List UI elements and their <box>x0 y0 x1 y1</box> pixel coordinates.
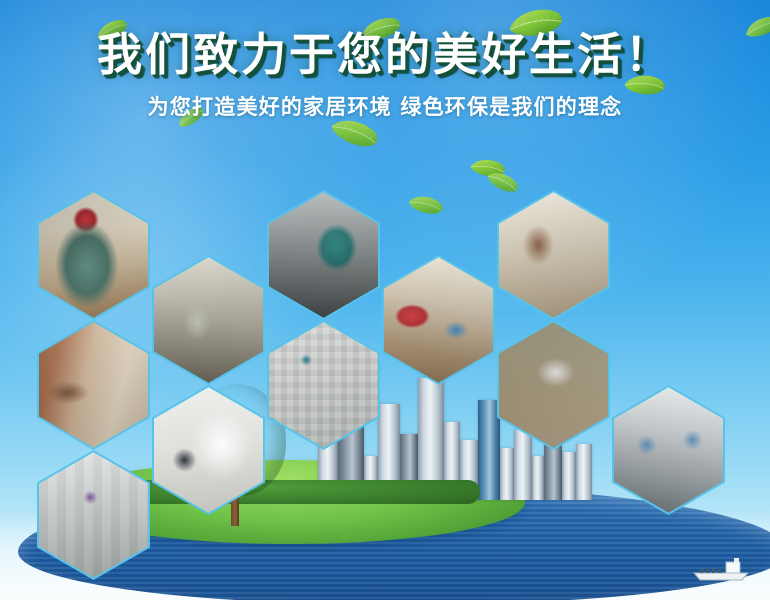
hex-floor-polishing[interactable] <box>497 320 610 450</box>
hexagon-clip <box>39 192 148 317</box>
page-subtitle: 为您打造美好的家居环境 绿色环保是我们的理念 <box>148 92 623 122</box>
hex-facade-rope-clean-photo <box>269 322 378 447</box>
hexagon-clip <box>614 387 723 512</box>
hex-handrail-painting[interactable] <box>37 320 150 450</box>
hex-kitchen-hood-clean-photo <box>499 192 608 317</box>
marketing-banner: 我们致力于您的美好生活！ 为您打造美好的家居环境 绿色环保是我们的理念 <box>0 0 770 600</box>
hex-handrail-painting-photo <box>39 322 148 447</box>
hex-building-rope-work-photo <box>39 452 148 577</box>
hex-stair-mopping-photo <box>154 257 263 382</box>
headline-container: 我们致力于您的美好生活！ <box>0 28 770 82</box>
hex-carpet-washing-photo <box>384 257 493 382</box>
hex-roof-cleaning[interactable] <box>612 385 725 515</box>
hex-building-rope-work[interactable] <box>37 450 150 580</box>
hexagon-clip <box>269 192 378 317</box>
hex-duct-cleaning[interactable] <box>267 190 380 320</box>
hex-floor-polishing-photo <box>499 322 608 447</box>
hex-chandelier-clean[interactable] <box>152 385 265 515</box>
hexagon-clip <box>154 257 263 382</box>
hexagon-clip <box>269 322 378 447</box>
hexagon-clip <box>499 322 608 447</box>
hex-kitchen-hood-clean[interactable] <box>497 190 610 320</box>
hex-chandelier-clean-photo <box>154 387 263 512</box>
hex-carpet-washing[interactable] <box>382 255 495 385</box>
hex-duct-cleaning-photo <box>269 192 378 317</box>
hex-facade-rope-clean[interactable] <box>267 320 380 450</box>
hexagon-photo-grid <box>0 0 770 600</box>
hexagon-clip <box>154 387 263 512</box>
hexagon-clip <box>384 257 493 382</box>
subheadline-container: 为您打造美好的家居环境 绿色环保是我们的理念 <box>0 92 770 122</box>
hex-roof-cleaning-photo <box>614 387 723 512</box>
hex-stair-mopping[interactable] <box>152 255 265 385</box>
hex-demolition-worker-photo <box>39 192 148 317</box>
hexagon-clip <box>499 192 608 317</box>
hexagon-clip <box>39 452 148 577</box>
page-title: 我们致力于您的美好生活！ <box>97 28 673 82</box>
hex-demolition-worker[interactable] <box>37 190 150 320</box>
hexagon-clip <box>39 322 148 447</box>
